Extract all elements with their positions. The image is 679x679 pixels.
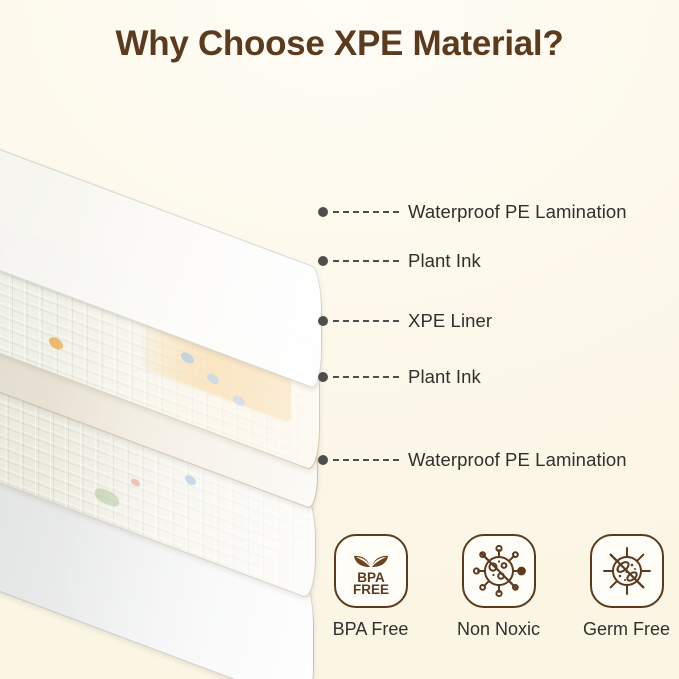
callout-bottom-lamination: Waterproof PE Lamination bbox=[318, 449, 627, 471]
badge-label: BPA Free bbox=[333, 619, 409, 640]
callout-leader-line bbox=[333, 260, 399, 262]
callout-label: Waterproof PE Lamination bbox=[408, 201, 627, 223]
leaves-bpa-free-icon: BPA FREE bbox=[334, 534, 408, 608]
badge-label: Non Noxic bbox=[457, 619, 540, 640]
callout-label: XPE Liner bbox=[408, 310, 492, 332]
badge-label: Germ Free bbox=[583, 619, 670, 640]
callout-label: Plant Ink bbox=[408, 366, 481, 388]
callout-upper-plant-ink: Plant Ink bbox=[318, 250, 481, 272]
layer-callout-list: Waterproof PE Lamination Plant Ink XPE L… bbox=[318, 0, 679, 520]
badge-non-noxic: Non Noxic bbox=[446, 534, 551, 654]
callout-label: Plant Ink bbox=[408, 250, 481, 272]
badge-icon-text-line2: FREE bbox=[352, 582, 388, 597]
callout-dot-icon bbox=[318, 455, 328, 465]
callout-leader-line bbox=[333, 320, 399, 322]
callout-dot-icon bbox=[318, 372, 328, 382]
callout-top-lamination: Waterproof PE Lamination bbox=[318, 201, 627, 223]
germ-slashed-icon bbox=[590, 534, 664, 608]
callout-label: Waterproof PE Lamination bbox=[408, 449, 627, 471]
callout-leader-line bbox=[333, 376, 399, 378]
virus-slashed-icon bbox=[462, 534, 536, 608]
badge-germ-free: Germ Free bbox=[574, 534, 679, 654]
product-illustration bbox=[0, 78, 350, 618]
callout-lower-plant-ink: Plant Ink bbox=[318, 366, 481, 388]
infographic-canvas: Why Choose XPE Material? bbox=[0, 0, 679, 679]
callout-dot-icon bbox=[318, 316, 328, 326]
badge-bpa-free: BPA FREE BPA Free bbox=[318, 534, 423, 654]
callout-leader-line bbox=[333, 459, 399, 461]
callout-dot-icon bbox=[318, 207, 328, 217]
callout-leader-line bbox=[333, 211, 399, 213]
callout-dot-icon bbox=[318, 256, 328, 266]
callout-xpe-liner: XPE Liner bbox=[318, 310, 492, 332]
certification-badge-list: BPA FREE BPA Free bbox=[318, 534, 679, 654]
